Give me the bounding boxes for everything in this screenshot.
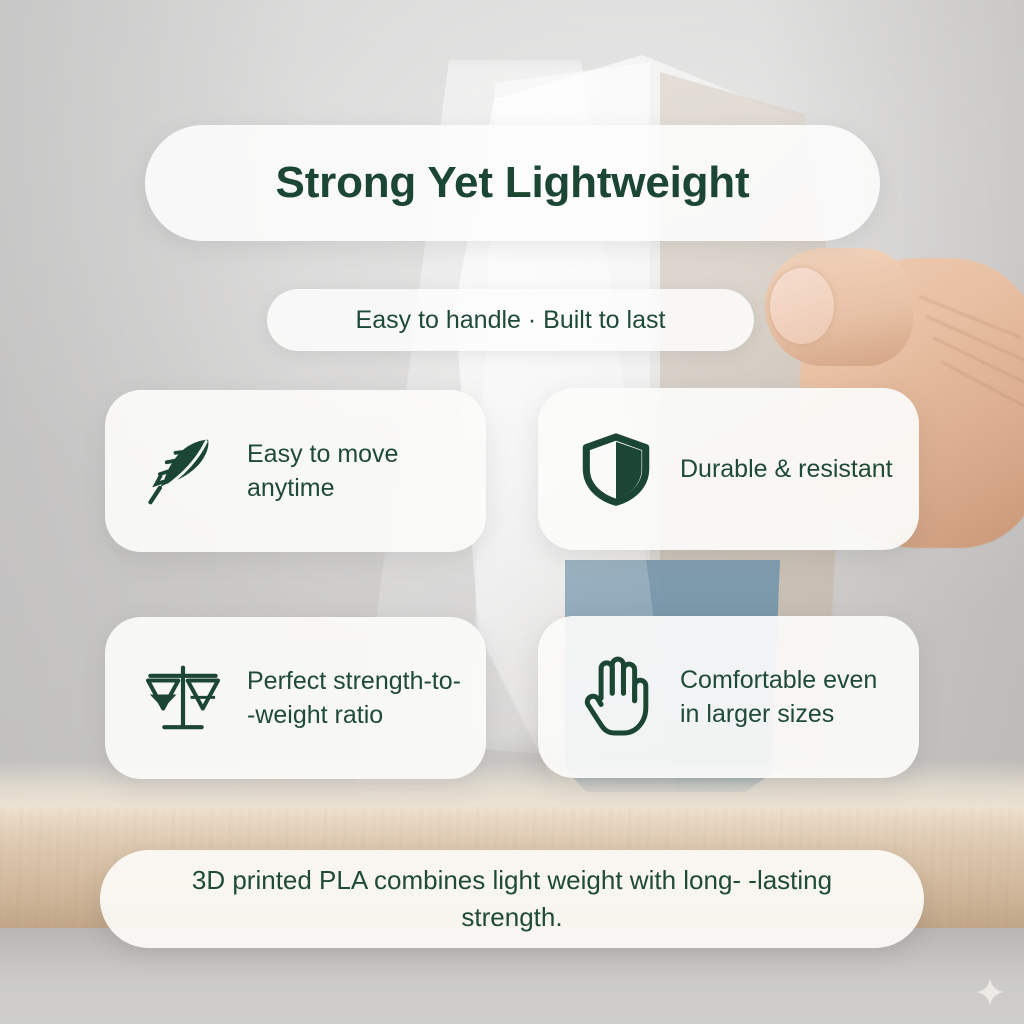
page-subtitle: Easy to handle · Built to last (356, 306, 666, 335)
feature-card-strength-to-weight[interactable]: Perfect strength-to- -weight ratio (105, 617, 486, 779)
feature-label: Durable & resistant (680, 452, 893, 487)
open-hand-icon (574, 655, 658, 739)
footer-pill: 3D printed PLA combines light weight wit… (100, 850, 924, 948)
feature-card-easy-to-move[interactable]: Easy to move anytime (105, 390, 486, 552)
title-pill: Strong Yet Lightweight (145, 125, 880, 241)
infographic-canvas: Strong Yet Lightweight Easy to handle · … (0, 0, 1024, 1024)
shield-icon (574, 427, 658, 511)
feature-label: Perfect strength-to- -weight ratio (247, 664, 464, 733)
balance-scale-icon (141, 656, 225, 740)
page-title: Strong Yet Lightweight (276, 158, 750, 208)
feather-icon (141, 429, 225, 513)
feature-card-durable[interactable]: Durable & resistant (538, 388, 919, 550)
feature-label: Easy to move anytime (247, 437, 464, 506)
feature-card-comfortable[interactable]: Comfortable even in larger sizes (538, 616, 919, 778)
sparkle-icon (975, 977, 1005, 1007)
hand-thumbnail (770, 268, 834, 344)
feature-label: Comfortable even in larger sizes (680, 663, 897, 732)
subtitle-pill: Easy to handle · Built to last (267, 289, 754, 351)
footer-text: 3D printed PLA combines light weight wit… (100, 862, 924, 936)
